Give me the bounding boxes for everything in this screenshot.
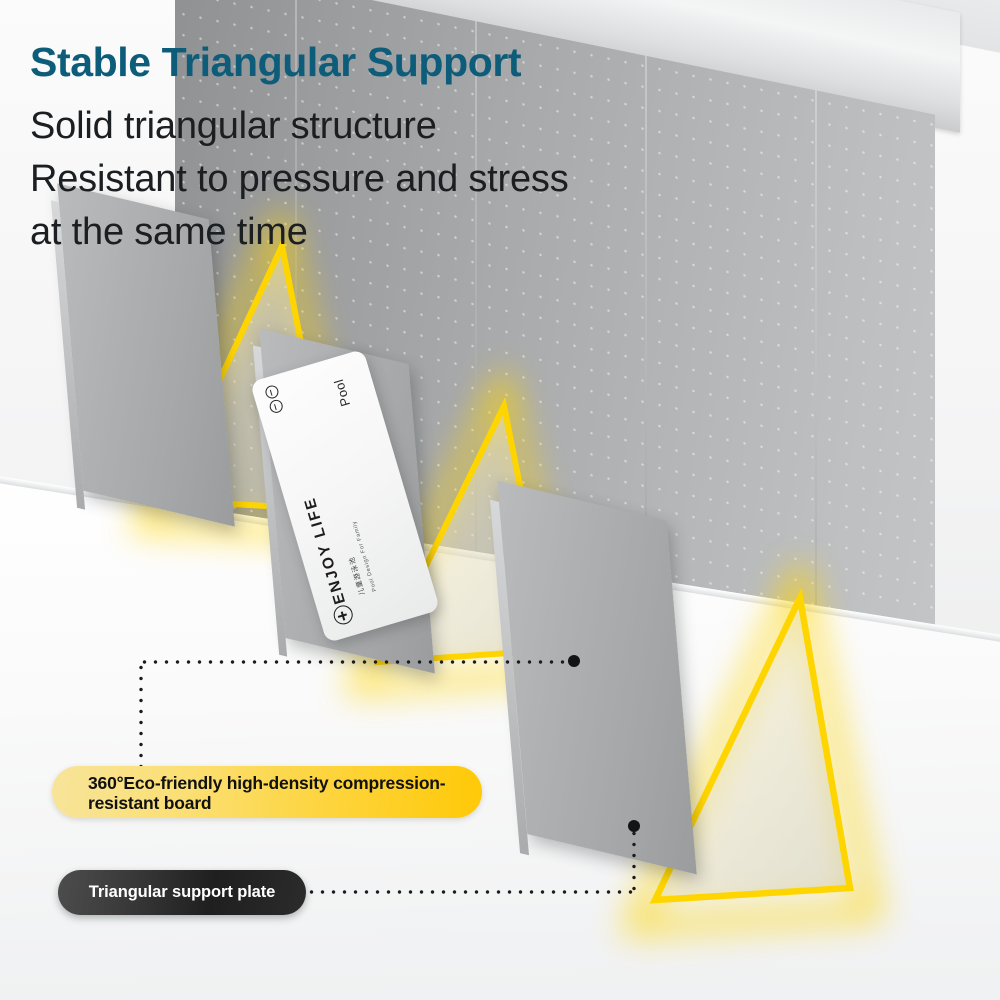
- callout-eco-board-label: 360°Eco-friendly high-density compressio…: [88, 773, 468, 813]
- leader-endpoint-1: [568, 655, 580, 667]
- product-model: Pool: [331, 377, 353, 408]
- page-title: Stable Triangular Support: [30, 42, 521, 83]
- leader-line-1-vertical: [139, 662, 143, 770]
- leader-endpoint-2: [628, 820, 640, 832]
- subheading-copy: Solid triangular structure Resistant to …: [30, 100, 569, 259]
- leader-line-2-vertical: [632, 828, 636, 892]
- callout-support-plate[interactable]: Triangular support plate: [58, 870, 306, 915]
- leader-line-1-horizontal: [139, 660, 574, 664]
- circle-mark-icon: [264, 384, 284, 415]
- product-feature-image: ENJOY LIFE 儿童游泳池 Pool Design For Family …: [0, 0, 1000, 1000]
- plus-circle-icon: [331, 603, 355, 627]
- leader-line-2-horizontal: [306, 890, 636, 894]
- callout-support-plate-label: Triangular support plate: [58, 870, 306, 915]
- callout-eco-board[interactable]: 360°Eco-friendly high-density compressio…: [52, 766, 482, 818]
- leaning-board-right: [497, 481, 696, 875]
